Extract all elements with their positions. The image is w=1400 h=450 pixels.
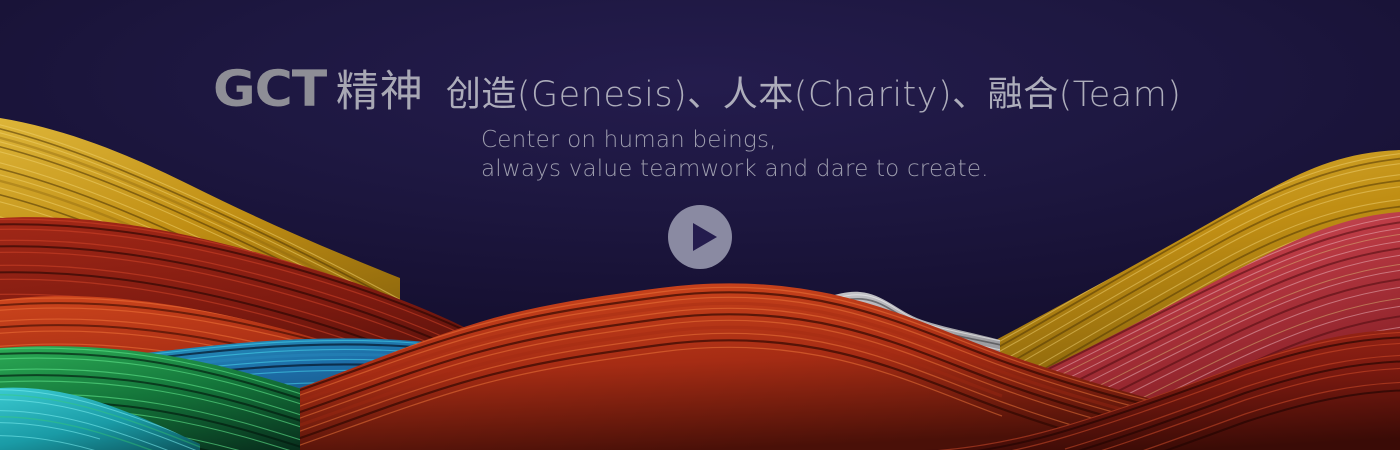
- brand-logo-gct: GCT: [213, 64, 326, 114]
- banner-text-layer: GCT 精神 创造(Genesis)、人本(Charity)、融合(Team) …: [0, 0, 1400, 450]
- play-video-button[interactable]: [668, 205, 732, 269]
- brand-logo-cn: 精神: [336, 71, 424, 114]
- tagline-chinese: 创造(Genesis)、人本(Charity)、融合(Team): [446, 78, 1182, 113]
- subtitle-block: Center on human beings, always value tea…: [481, 126, 989, 184]
- hero-banner: GCT 精神 创造(Genesis)、人本(Charity)、融合(Team) …: [0, 0, 1400, 450]
- headline: GCT 精神 创造(Genesis)、人本(Charity)、融合(Team): [213, 64, 1181, 114]
- play-triangle-icon: [668, 205, 732, 269]
- subtitle-line-2: always value teamwork and dare to create…: [481, 155, 989, 184]
- subtitle-line-1: Center on human beings,: [481, 126, 989, 155]
